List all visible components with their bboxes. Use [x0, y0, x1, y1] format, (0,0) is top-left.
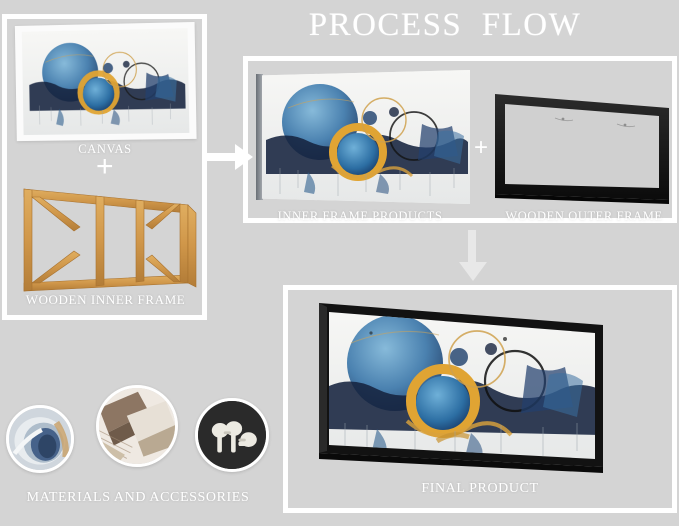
label-wooden-inner-frame: WOODEN INNER FRAME	[8, 292, 203, 308]
wooden-inner-frame-image	[18, 183, 204, 299]
artwork-canvas	[22, 28, 190, 135]
label-wooden-outer-frame: WOODEN OUTER FRAME	[490, 209, 678, 224]
canvas-side-edge	[256, 74, 263, 200]
label-final-product: FINAL PRODUCT	[300, 481, 660, 497]
page-title: PROCESS FLOW	[280, 4, 610, 46]
material-circle-wood-strips	[96, 385, 178, 467]
plus-operator-inner-outer: +	[474, 136, 488, 160]
arrow-down-icon	[459, 230, 487, 282]
label-materials-and-accessories: MATERIALS AND ACCESSORIES	[8, 490, 268, 506]
artwork-inner-frame	[262, 70, 470, 204]
wooden-outer-frame-image	[489, 88, 675, 206]
label-inner-frame-products: INNER FRAME PRODUCTS	[255, 209, 465, 224]
process-flow-infographic: PROCESS FLOW	[0, 0, 679, 526]
plus-operator-canvas-frame: +	[96, 152, 114, 182]
material-circle-hanging-hardware	[195, 398, 269, 472]
canvas-artwork	[15, 22, 197, 141]
final-product-image	[315, 295, 610, 480]
material-circle-canvas-roll	[6, 405, 74, 473]
inner-frame-product-image	[256, 70, 470, 204]
